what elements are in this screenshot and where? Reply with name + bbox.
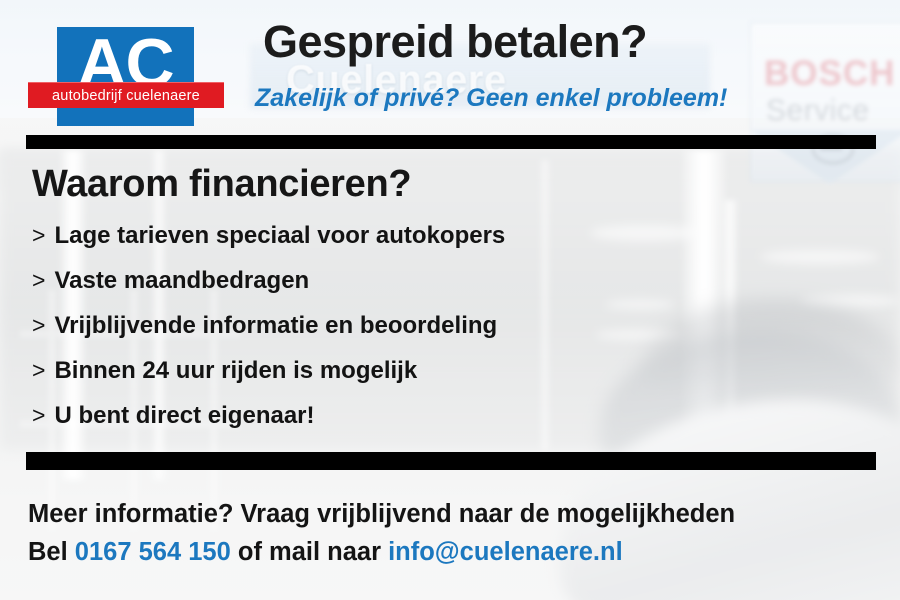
chevron-right-icon: >: [32, 222, 45, 249]
divider-bottom: [26, 452, 876, 470]
contact-footer: Meer informatie? Vraag vrijblijvend naar…: [28, 495, 888, 571]
chevron-right-icon: >: [32, 402, 45, 429]
list-item-label: Lage tarieven speciaal voor autokopers: [54, 222, 505, 250]
bosch-service-sign: BOSCH Service: [750, 22, 900, 182]
footer-call-prefix: Bel: [28, 538, 75, 566]
bosch-wordmark: BOSCH: [764, 54, 895, 94]
email-address-link[interactable]: info@cuelenaere.nl: [388, 538, 623, 566]
logo-red-ribbon: autobedrijf cuelenaere: [28, 82, 224, 108]
list-item: > Vrijblijvende informatie en beoordelin…: [32, 312, 652, 357]
financing-advertisement-banner: BOSCH Service Cuelenaere AC autobedrijf …: [0, 0, 900, 600]
benefits-list: > Lage tarieven speciaal voor autokopers…: [32, 222, 652, 447]
logo-ribbon-text: autobedrijf cuelenaere: [52, 88, 200, 104]
footer-contact-line: Bel 0167 564 150 of mail naar info@cuele…: [28, 533, 888, 571]
page-subtitle: Zakelijk of privé? Geen enkel probleem!: [255, 84, 727, 113]
list-item: > U bent direct eigenaar!: [32, 402, 652, 447]
divider-top: [26, 135, 876, 149]
company-logo: AC autobedrijf cuelenaere: [57, 27, 194, 126]
list-item-label: Vrijblijvende informatie en beoordeling: [54, 312, 497, 340]
chevron-right-icon: >: [32, 357, 45, 384]
bosch-service-label: Service: [766, 94, 870, 128]
chevron-right-icon: >: [32, 312, 45, 339]
page-title: Gespreid betalen?: [263, 18, 647, 65]
list-item: > Lage tarieven speciaal voor autokopers: [32, 222, 652, 267]
list-item: > Vaste maandbedragen: [32, 267, 652, 312]
section-title: Waarom financieren?: [32, 163, 411, 206]
footer-mail-connector: of mail naar: [231, 538, 388, 566]
list-item: > Binnen 24 uur rijden is mogelijk: [32, 357, 652, 402]
footer-info-line: Meer informatie? Vraag vrijblijvend naar…: [28, 495, 888, 533]
list-item-label: U bent direct eigenaar!: [54, 402, 314, 430]
list-item-label: Vaste maandbedragen: [54, 267, 309, 295]
list-item-label: Binnen 24 uur rijden is mogelijk: [54, 357, 417, 385]
phone-number-link[interactable]: 0167 564 150: [75, 538, 231, 566]
chevron-right-icon: >: [32, 267, 45, 294]
